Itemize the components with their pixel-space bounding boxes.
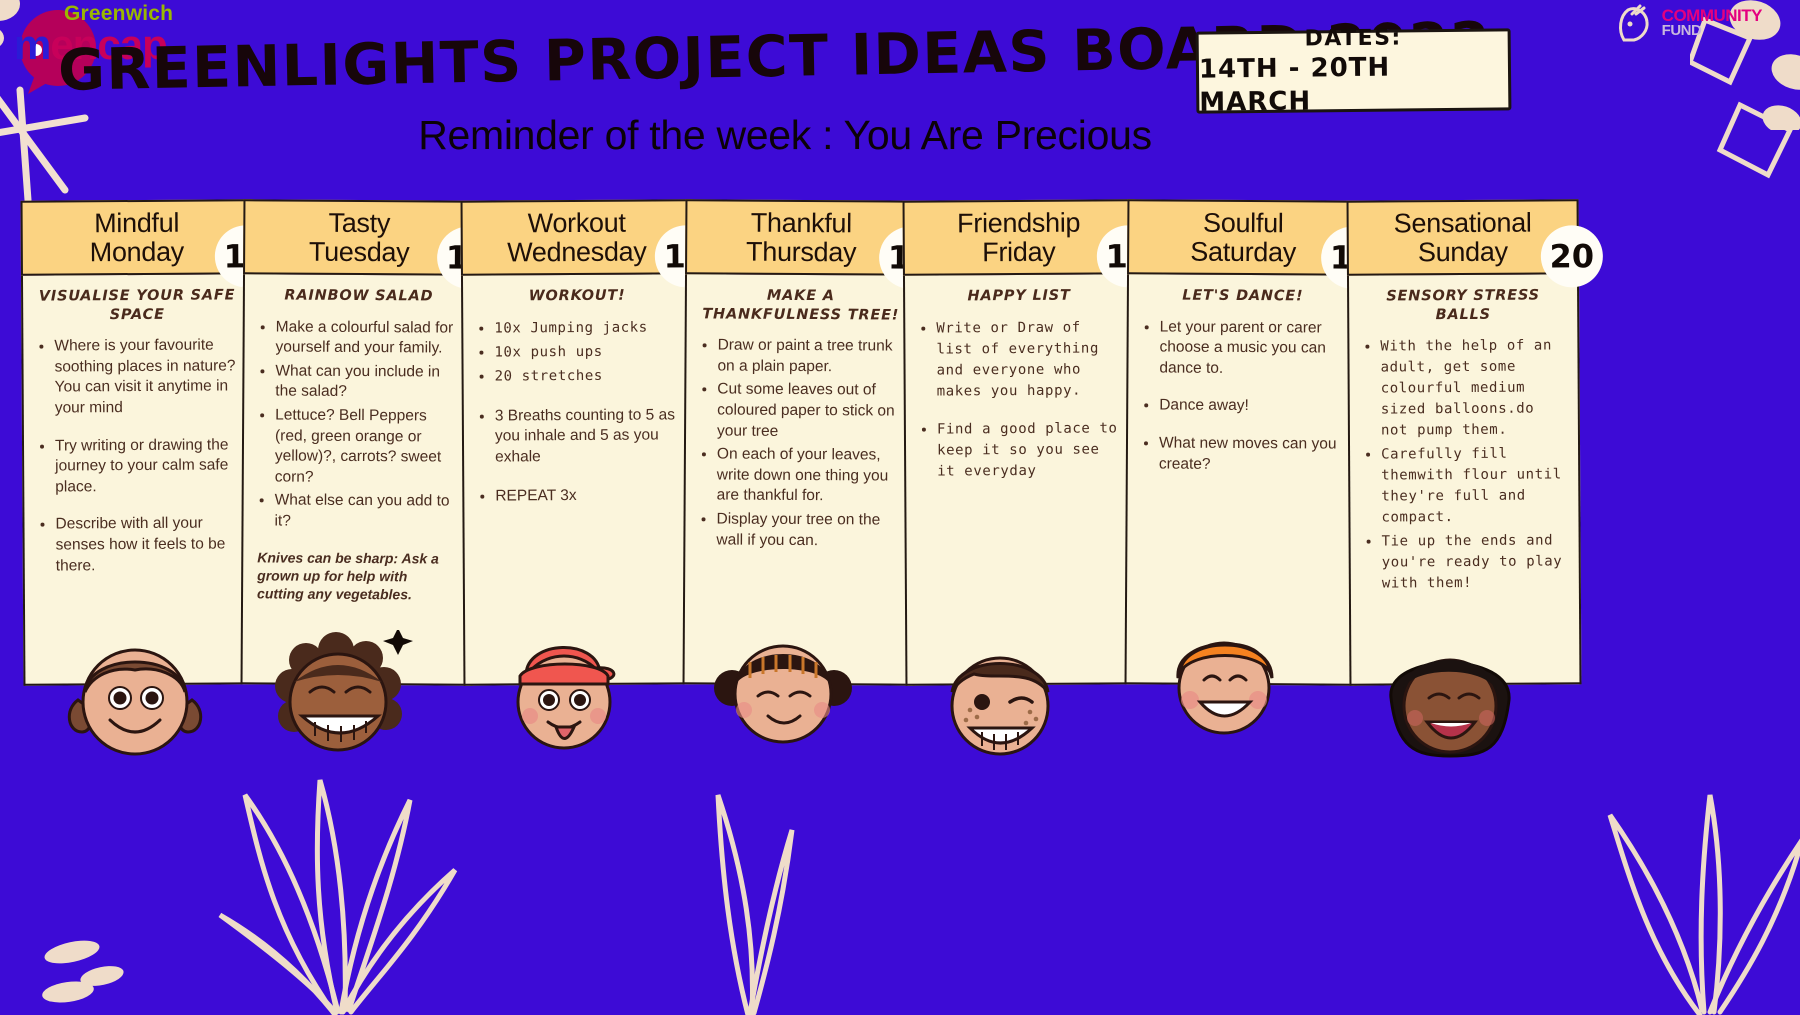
activity-item: REPEAT 3x xyxy=(495,486,678,508)
dates-box: DATES: 14TH - 20TH MARCH xyxy=(1196,28,1512,113)
page-title: GREENLIGHTS PROJECT IDEAS BOARD 2022 xyxy=(58,21,1189,100)
activity-item: 10x Jumping jacks xyxy=(494,317,677,339)
activity-title: LET'S DANCE! xyxy=(1143,286,1343,306)
day-name-line1: Mindful xyxy=(94,208,179,239)
background-decoration-blobs-bottom-left xyxy=(40,940,160,1010)
day-column-tuesday: TastyTuesday15RAINBOW SALADMake a colour… xyxy=(241,199,476,685)
activity-title: VISUALISE YOUR SAFE SPACE xyxy=(37,286,237,324)
day-card-body: SENSORY STRESS BALLSWith the help of an … xyxy=(1347,274,1582,685)
day-name-line2: Wednesday xyxy=(507,236,647,267)
activity-item: On each of your leaves, write down one t… xyxy=(717,445,900,508)
activity-title: MAKE A THANKFULNESS TREE! xyxy=(701,286,901,324)
activity-item: 20 stretches xyxy=(495,365,678,387)
list-gap xyxy=(478,470,678,487)
dates-label: DATES: xyxy=(1304,24,1402,53)
day-name: TastyTuesday xyxy=(303,209,416,267)
background-decoration-leaves-bottom-center xyxy=(700,785,795,1015)
community-fund-line2: FUND xyxy=(1662,24,1762,38)
boy-winking-freckles-avatar xyxy=(930,640,1070,775)
day-name: SoulfulSaturday xyxy=(1184,209,1302,267)
day-name: FriendshipFriday xyxy=(951,208,1086,266)
day-column-sunday: SensationalSunday20SENSORY STRESS BALLSW… xyxy=(1347,199,1582,685)
day-name-line2: Tuesday xyxy=(309,236,410,267)
activity-item: What can you include in the salad? xyxy=(275,361,458,403)
activity-list: With the help of an adult, get some colo… xyxy=(1363,335,1565,594)
activity-item: Draw or paint a tree trunk on a plain pa… xyxy=(717,336,900,378)
community-fund-logo: COMMUNITY FUND xyxy=(1614,2,1784,50)
activity-title: RAINBOW SALAD xyxy=(259,286,459,306)
activity-item: Dance away! xyxy=(1159,396,1342,418)
girl-brown-pigtails-avatar xyxy=(60,640,210,775)
list-gap xyxy=(478,389,678,406)
logo-mencap-m: m xyxy=(14,21,50,68)
day-column-thursday: ThankfulThursday17MAKE A THANKFULNESS TR… xyxy=(683,199,918,685)
day-name-line1: Tasty xyxy=(328,208,390,238)
girl-dark-hair-laugh-avatar xyxy=(1375,632,1525,772)
day-name-line1: Workout xyxy=(528,208,626,239)
day-card-body: WORKOUT!10x Jumping jacks10x push ups20 … xyxy=(461,274,696,685)
day-name: SensationalSunday xyxy=(1388,208,1538,266)
activity-item: Lettuce? Bell Peppers (red, green orange… xyxy=(275,405,459,489)
background-decoration-leaves-bottom-left xyxy=(215,740,465,1015)
day-name-line1: Friendship xyxy=(957,208,1080,239)
day-column-friday: FriendshipFriday18HAPPY LISTWrite or Dra… xyxy=(903,199,1138,685)
day-column-wednesday: WorkoutWednesday16WORKOUT!10x Jumping ja… xyxy=(461,199,696,685)
day-card-body: HAPPY LISTWrite or Draw of list of every… xyxy=(903,274,1138,685)
day-name-line2: Friday xyxy=(982,236,1055,266)
activity-list: 10x Jumping jacks10x push ups20 stretche… xyxy=(477,317,677,387)
activity-title: HAPPY LIST xyxy=(919,286,1119,306)
day-card-body: VISUALISE YOUR SAFE SPACEWhere is your f… xyxy=(21,274,256,685)
activity-list: Let your parent or carer choose a music … xyxy=(1142,317,1343,476)
activity-item: Make a colourful salad for yourself and … xyxy=(276,317,459,359)
activity-item: Display your tree on the wall if you can… xyxy=(716,509,899,551)
kid-red-cap-tongue-avatar xyxy=(500,632,630,767)
weekly-reminder-subtitle: Reminder of the week : You Are Precious xyxy=(0,112,1570,159)
activity-item: Tie up the ends and you're ready to play… xyxy=(1382,530,1565,594)
activity-list: Where is your favourite soothing places … xyxy=(37,335,238,576)
day-name-line1: Thankful xyxy=(751,208,852,239)
activity-list: 3 Breaths counting to 5 as you inhale an… xyxy=(478,405,678,468)
day-name: WorkoutWednesday xyxy=(501,208,653,266)
day-column-monday: MindfulMonday14VISUALISE YOUR SAFE SPACE… xyxy=(21,199,256,685)
activity-list: Write or Draw of list of everything and … xyxy=(919,317,1120,482)
day-column-saturday: SoulfulSaturday19LET'S DANCE!Let your pa… xyxy=(1125,199,1360,685)
activity-title: WORKOUT! xyxy=(477,286,677,306)
day-name-line2: Thursday xyxy=(746,236,856,267)
activity-list: Draw or paint a tree trunk on a plain pa… xyxy=(699,335,900,551)
activity-list: Make a colourful salad for yourself and … xyxy=(257,317,458,533)
activity-item: With the help of an adult, get some colo… xyxy=(1380,335,1564,441)
day-card-body: RAINBOW SALADMake a colourful salad for … xyxy=(241,274,476,685)
day-card-body: MAKE A THANKFULNESS TREE!Draw or paint a… xyxy=(683,274,918,685)
boy-curly-hair-grin-avatar xyxy=(258,630,418,775)
day-name-line2: Saturday xyxy=(1190,236,1296,267)
background-decoration-leaves-bottom-right xyxy=(1590,760,1800,1015)
activity-item: Carefully fill themwith flour until they… xyxy=(1381,443,1565,528)
date-badge-20: 20 xyxy=(1541,225,1603,287)
dates-range: 14TH - 20TH MARCH xyxy=(1199,51,1509,119)
day-name-line2: Monday xyxy=(90,236,184,267)
activity-item: What new moves can you create? xyxy=(1159,433,1342,475)
activity-title: SENSORY STRESS BALLS xyxy=(1363,286,1563,324)
day-name-line1: Sensational xyxy=(1394,207,1532,238)
boy-orange-hair-smile-avatar xyxy=(1160,618,1290,753)
community-fund-text: COMMUNITY FUND xyxy=(1662,8,1762,37)
week-board: MindfulMonday14VISUALISE YOUR SAFE SPACE… xyxy=(0,200,1800,720)
activity-item: Describe with all your senses how it fee… xyxy=(55,514,238,577)
activity-item: Find a good place to keep it so you see … xyxy=(937,418,1120,482)
activity-item: 10x push ups xyxy=(494,341,677,363)
activity-item: 3 Breaths counting to 5 as you inhale an… xyxy=(495,405,678,468)
day-name: ThankfulThursday xyxy=(740,209,863,267)
activity-list: REPEAT 3x xyxy=(478,486,678,508)
activity-item: Where is your favourite soothing places … xyxy=(54,335,238,419)
activity-item: Write or Draw of list of everything and … xyxy=(936,317,1120,402)
day-name-line2: Sunday xyxy=(1418,236,1508,267)
lottery-crossed-fingers-icon xyxy=(1614,4,1658,44)
girl-bunches-closed-eyes-avatar xyxy=(708,630,858,765)
activity-item: What else can you add to it? xyxy=(274,491,457,533)
day-name: MindfulMonday xyxy=(83,209,190,267)
activity-item: Try writing or drawing the journey to yo… xyxy=(55,435,238,498)
day-name-line1: Soulful xyxy=(1203,208,1284,238)
activity-item: Let your parent or carer choose a music … xyxy=(1159,317,1342,380)
activity-item: Cut some leaves out of coloured paper to… xyxy=(717,380,900,443)
safety-note: Knives can be sharp: Ask a grown up for … xyxy=(257,548,457,604)
